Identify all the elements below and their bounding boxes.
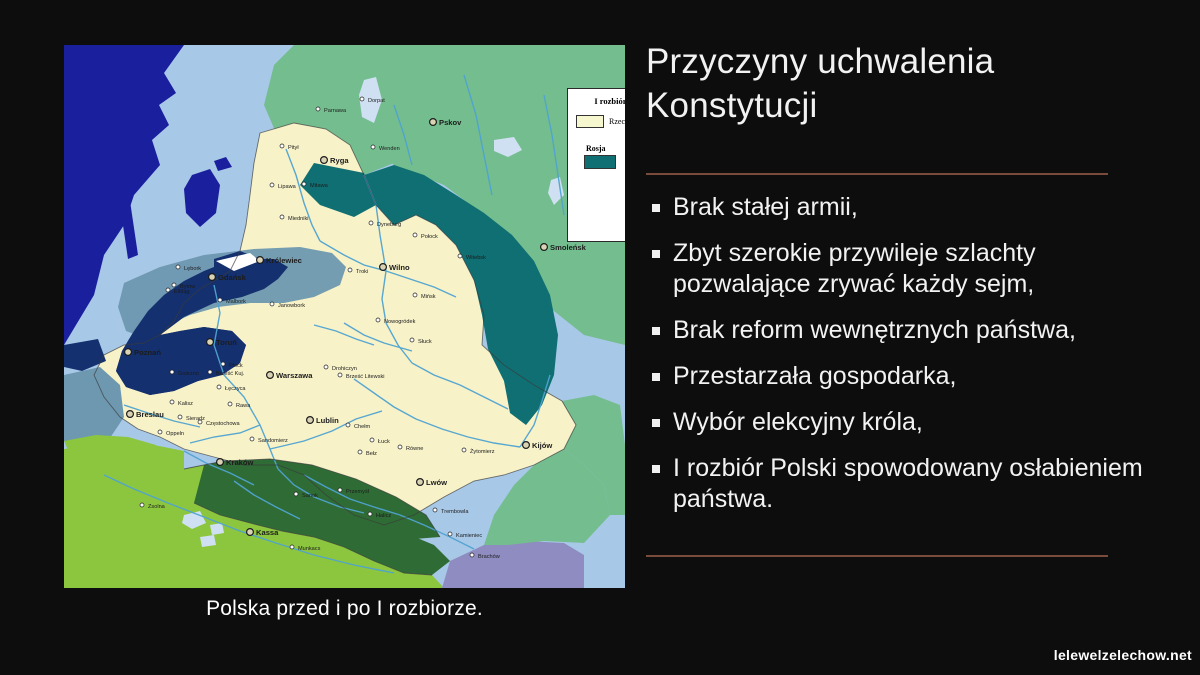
map-city-marker [247, 529, 254, 536]
bullet-item: Brak reform wewnętrznych państwa, [646, 315, 1146, 346]
map-city-marker [417, 479, 424, 486]
map-city-marker [523, 442, 530, 449]
map-city-label: Lwów [426, 478, 447, 487]
map-city-label: Żytomierz [470, 448, 495, 455]
map-city-label: Lębork [184, 266, 201, 272]
map-city-marker [270, 183, 274, 187]
map-city-marker [346, 423, 350, 427]
bullet-text: Brak stałej armii, [673, 193, 858, 221]
map-city-label: Ryga [330, 156, 349, 165]
bullet-square-icon [652, 204, 660, 212]
map-city-marker [125, 349, 132, 356]
map-city-marker [302, 182, 306, 186]
map-city-label: Kijów [532, 441, 552, 450]
map-city-marker [221, 362, 225, 366]
title-divider [646, 173, 1108, 175]
map-city-marker [376, 318, 380, 322]
map-city-label: Oppeln [166, 431, 184, 437]
legend-entry-commonwealth: Rzeczp [576, 115, 625, 128]
map-city-label: Przemyśl [346, 489, 369, 495]
map-city-label: Łęczyca [225, 386, 246, 392]
bullet-square-icon [652, 465, 660, 473]
bullet-item: Zbyt szerokie przywileje szlachty pozwal… [646, 238, 1146, 300]
map-city-marker [430, 119, 437, 126]
map-city-label: Nowogródek [384, 319, 416, 325]
map-city-marker [348, 268, 352, 272]
map-city-label: Kalisz [178, 401, 193, 407]
legend-label-commonwealth: Rzeczp [609, 117, 625, 126]
map-city-marker [358, 450, 362, 454]
map-city-marker [209, 274, 216, 281]
map-city-marker [198, 420, 202, 424]
map-city-label: Brześć Litewski [346, 374, 385, 380]
map-city-label: Rawa [236, 403, 251, 409]
map-city-marker [307, 417, 314, 424]
map-city-label: Trembowla [441, 509, 469, 515]
watermark: lelewelzelechow.net [1054, 647, 1192, 663]
map-city-marker [158, 430, 162, 434]
map-city-label: Sieradz [186, 416, 205, 422]
map-city-label: Toruń [216, 338, 237, 347]
map-city-marker [127, 411, 134, 418]
map-city-label: Brześć Kuj. [216, 371, 245, 377]
map-city-marker [316, 107, 320, 111]
map-city-marker [172, 283, 176, 287]
title-line-2: Konstytucji [646, 84, 1140, 128]
map-city-marker [176, 265, 180, 269]
map-city-label: Mitawa [310, 183, 329, 189]
map-city-marker [398, 445, 402, 449]
map-city-label: Brachów [478, 554, 501, 560]
page-title: Przyczyny uchwalenia Konstytucji [646, 40, 1140, 128]
map-city-marker [321, 157, 328, 164]
map-city-marker [324, 365, 328, 369]
map-city-label: Breslau [136, 410, 164, 419]
map-city-label: Pitył [288, 145, 299, 151]
map-city-marker [338, 373, 342, 377]
map-city-label: Pskov [439, 118, 462, 127]
map-figure: PskovTverDorpatParnawaWendenRygaPityłMit… [64, 45, 625, 588]
bullet-text: Przestarzała gospodarka, [673, 362, 956, 390]
map-city-marker [228, 402, 232, 406]
map-city-marker [369, 221, 373, 225]
map-city-marker [207, 339, 214, 346]
map-city-label: Kraków [226, 458, 254, 467]
bullet-square-icon [652, 419, 660, 427]
map-city-label: Troki [356, 269, 368, 275]
map-city-label: Zsolna [148, 504, 166, 510]
bullet-item: Przestarzała gospodarka, [646, 361, 1146, 392]
map-city-label: Miedniki [288, 216, 309, 222]
map-city-marker [257, 257, 264, 264]
map-city-label: Bełz [366, 451, 377, 457]
map-city-marker [208, 370, 212, 374]
map-city-label: Warszawa [276, 371, 313, 380]
map-city-marker [470, 553, 474, 557]
map-city-label: Janowbork [278, 303, 305, 309]
map-legend: I rozbiór P Rzeczp Rosja [567, 88, 625, 242]
map-city-label: Dyneburg [377, 222, 401, 228]
map-city-label: Mińsk [421, 294, 436, 300]
title-line-1: Przyczyny uchwalenia [646, 40, 1140, 84]
bottom-divider [646, 555, 1108, 557]
map-city-label: Łuck [378, 439, 390, 445]
map-city-marker [280, 215, 284, 219]
presentation-slide: PskovTverDorpatParnawaWendenRygaPityłMit… [0, 0, 1200, 675]
map-city-marker [267, 372, 274, 379]
map-city-marker [170, 370, 174, 374]
map-city-label: Kassa [256, 528, 279, 537]
map-city-marker [294, 492, 298, 496]
map-city-label: Witebsk [466, 255, 486, 261]
map-city-label: Bytów [180, 284, 196, 290]
map-city-marker [290, 545, 294, 549]
legend-label-russia: Rosja [586, 144, 625, 153]
map-city-marker [270, 302, 274, 306]
map-city-label: Lublin [316, 416, 339, 425]
map-city-marker [458, 254, 462, 258]
map-city-label: Parnawa [324, 108, 347, 114]
bullet-text: Wybór elekcyjny króla, [673, 408, 923, 436]
legend-swatch-russia [584, 155, 616, 169]
map-city-marker [433, 508, 437, 512]
bullet-item: Brak stałej armii, [646, 192, 1146, 223]
map-city-label: Słuck [418, 339, 432, 345]
legend-swatch-commonwealth [576, 115, 604, 128]
map-city-label: Częstochowa [206, 421, 240, 427]
bullet-text: Brak reform wewnętrznych państwa, [673, 316, 1076, 344]
map-city-label: Chełm [354, 424, 371, 430]
map-city-label: Kamieniec [456, 533, 482, 539]
map-city-label: Płock [229, 363, 243, 369]
map-city-marker [360, 97, 364, 101]
map-city-label: Gniezno [178, 371, 199, 377]
bullet-square-icon [652, 373, 660, 381]
map-city-marker [448, 532, 452, 536]
bullet-square-icon [652, 327, 660, 335]
map-city-marker [338, 488, 342, 492]
map-city-marker [250, 437, 254, 441]
map-city-label: Lipawa [278, 184, 297, 190]
map-city-marker [541, 244, 548, 251]
map-city-marker [368, 512, 372, 516]
bullet-text: I rozbiór Polski spowodowany osłabieniem… [673, 454, 1143, 513]
map-city-label: Połock [421, 234, 438, 240]
bullet-text: Zbyt szerokie przywileje szlachty pozwal… [673, 239, 1036, 298]
legend-title: I rozbiór P [568, 96, 625, 106]
map-city-label: Równe [406, 446, 423, 452]
map-city-label: Wilno [389, 263, 410, 272]
map-city-label: Drohiczyn [332, 366, 357, 372]
map-city-marker [280, 144, 284, 148]
map-city-label: Munkacs [298, 546, 321, 552]
map-city-marker [217, 385, 221, 389]
map-city-label: Dorpat [368, 98, 385, 104]
map-city-marker [410, 338, 414, 342]
map-city-label: Smoleńsk [550, 243, 587, 252]
map-city-marker [462, 448, 466, 452]
bullet-list: Brak stałej armii,Zbyt szerokie przywile… [646, 192, 1146, 530]
map-city-marker [218, 298, 222, 302]
map-city-label: Wenden [379, 146, 400, 152]
map-city-marker [370, 438, 374, 442]
figure-caption: Polska przed i po I rozbiorze. [64, 592, 625, 626]
map-city-label: Gdańsk [218, 273, 247, 282]
map-city-marker [217, 459, 224, 466]
map-city-label: Poznań [134, 348, 161, 357]
map-city-label: Halicz [376, 513, 391, 519]
map-city-label: Malbork [226, 299, 246, 305]
slide-text-panel: Przyczyny uchwalenia Konstytucji [646, 40, 1140, 128]
map-city-marker [178, 415, 182, 419]
map-city-marker [380, 264, 387, 271]
map-city-label: Królewiec [266, 256, 302, 265]
bullet-item: I rozbiór Polski spowodowany osłabieniem… [646, 453, 1146, 515]
map-city-marker [166, 288, 170, 292]
bullet-item: Wybór elekcyjny króla, [646, 407, 1146, 438]
map-city-marker [170, 400, 174, 404]
bullet-square-icon [652, 250, 660, 258]
map-city-marker [413, 293, 417, 297]
historical-map-poland-partitions: PskovTverDorpatParnawaWendenRygaPityłMit… [64, 45, 625, 588]
map-city-label: Sanok [302, 493, 318, 499]
map-city-marker [413, 233, 417, 237]
map-city-marker [140, 503, 144, 507]
map-city-label: Sandomierz [258, 438, 288, 444]
map-city-marker [371, 145, 375, 149]
